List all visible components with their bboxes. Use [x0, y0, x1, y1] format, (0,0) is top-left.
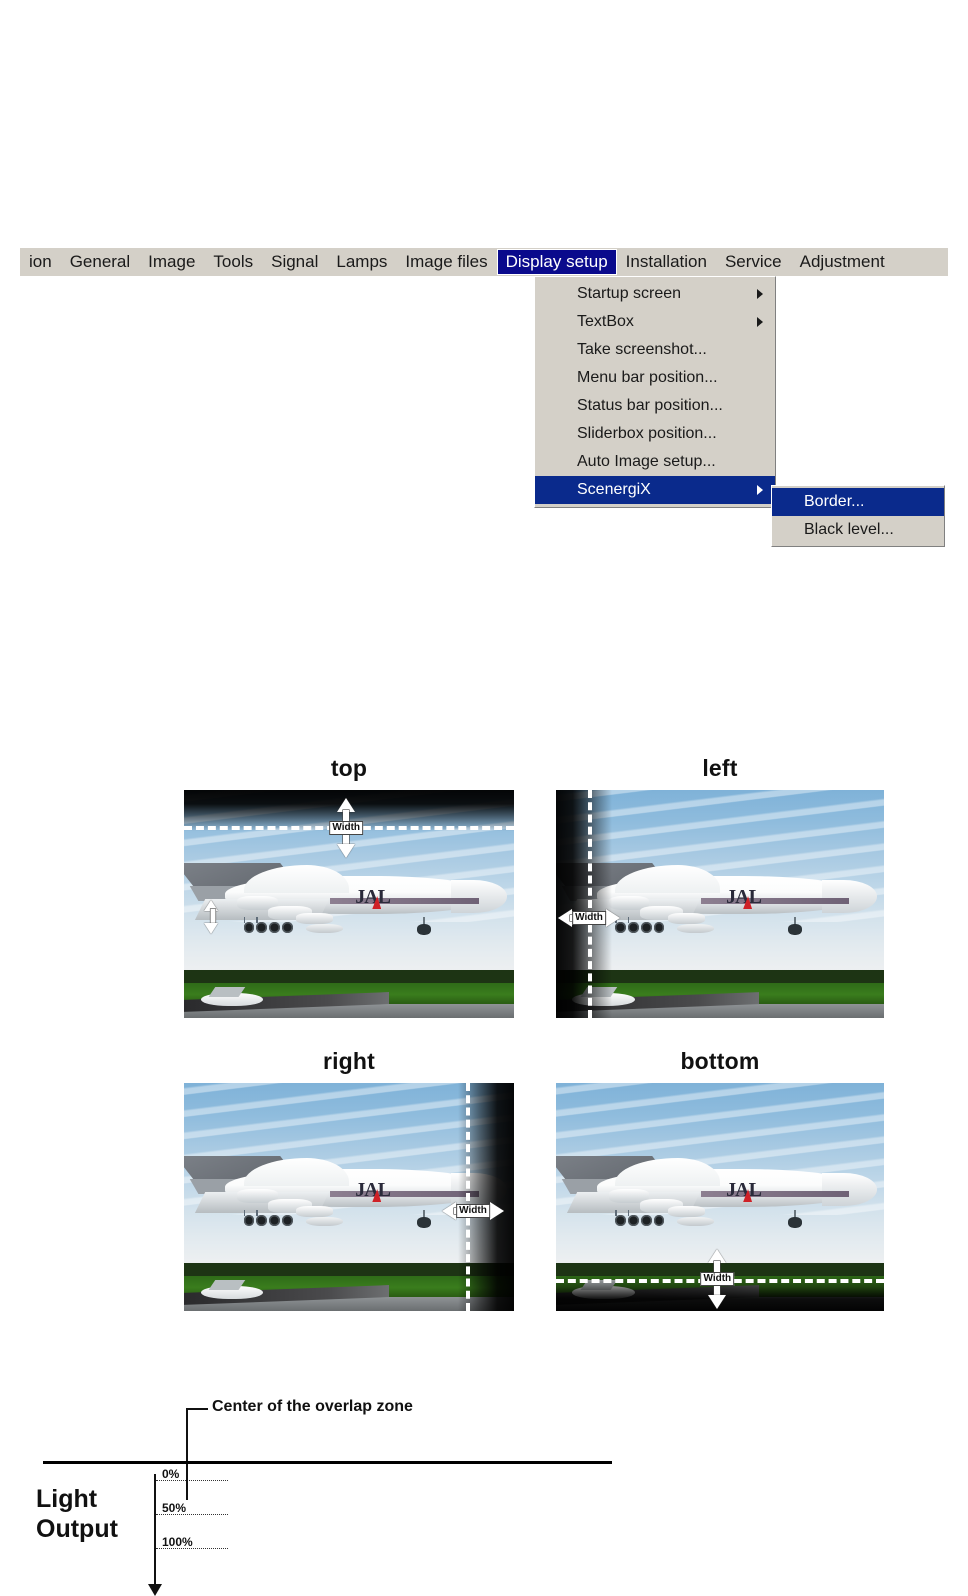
callout-label: Center of the overlap zone	[212, 1398, 413, 1416]
airline-mark: JAL	[355, 886, 390, 909]
gear-strut	[256, 917, 258, 923]
wheel	[654, 1215, 665, 1226]
light-output-label-line1: Light	[36, 1484, 97, 1514]
tick-label-50: 50%	[162, 1501, 186, 1515]
arrowhead-down-icon	[708, 1295, 726, 1309]
menu-item-startup-screen[interactable]: Startup screen	[535, 280, 775, 308]
airline-mark: JAL	[726, 1179, 761, 1202]
engine-3	[296, 913, 333, 924]
photo-bottom: JAL Width	[556, 1083, 884, 1311]
nose	[451, 880, 507, 913]
light-output-label-line2: Output	[36, 1514, 118, 1544]
hanging-pod	[788, 1217, 802, 1228]
footer-rule	[43, 1461, 612, 1464]
gear-strut	[244, 1210, 246, 1216]
landing-gear	[615, 1215, 664, 1226]
wheel	[628, 1215, 639, 1226]
menu-item-menu-bar-position[interactable]: Menu bar position...	[535, 364, 775, 392]
airline-mark: JAL	[726, 886, 761, 909]
nose	[822, 880, 877, 913]
menu-item-label: Menu bar position...	[577, 369, 718, 386]
engine-3	[668, 1206, 705, 1217]
width-label: Width	[329, 821, 363, 835]
engine-3	[668, 913, 705, 924]
menu-item-scenergix[interactable]: ScenergiX	[535, 476, 775, 504]
menu-item-label: Auto Image setup...	[577, 453, 716, 470]
width-arrow-top: Width	[329, 798, 363, 858]
hanging-pod	[788, 924, 802, 935]
chevron-right-icon	[757, 317, 763, 327]
menu-item-signal[interactable]: Signal	[262, 249, 327, 275]
tick-label-100: 100%	[162, 1535, 193, 1549]
menu-item-image[interactable]: Image	[139, 249, 204, 275]
photo-right: JAL Width	[184, 1083, 514, 1311]
cheatline	[701, 1191, 849, 1198]
width-arrow-bottom: Width	[700, 1249, 734, 1309]
menu-item-general[interactable]: General	[61, 249, 139, 275]
jumbo-jet: JAL	[194, 858, 504, 940]
menu-item-textbox[interactable]: TextBox	[535, 308, 775, 336]
arrowhead-down-icon	[204, 923, 218, 934]
engine-pod	[306, 1217, 343, 1226]
light-output-axis	[154, 1474, 156, 1586]
arrowhead-right-icon	[606, 909, 620, 927]
landing-gear	[615, 922, 664, 933]
wheel	[256, 1215, 267, 1226]
wheel	[244, 922, 255, 933]
menu-item-label: Status bar position...	[577, 397, 723, 414]
wheel	[641, 922, 652, 933]
light-output-arrowhead-icon	[148, 1584, 162, 1596]
engine-pod	[677, 1217, 714, 1226]
wheel	[628, 922, 639, 933]
engine-pod	[306, 924, 343, 933]
width-label: Width	[456, 1204, 490, 1218]
scenergix-submenu: Border... Black level...	[771, 485, 945, 547]
photo-left: JAL Width	[556, 790, 884, 1018]
wheel	[641, 1215, 652, 1226]
callout-leader-horizontal	[186, 1408, 208, 1410]
wheel	[269, 922, 280, 933]
menu-bar: ion General Image Tools Signal Lamps Ima…	[20, 248, 948, 276]
wheel	[282, 1215, 293, 1226]
chevron-right-icon	[757, 485, 763, 495]
menu-item-sliderbox-position[interactable]: Sliderbox position...	[535, 420, 775, 448]
gear-strut	[244, 917, 246, 923]
submenu-item-black-level[interactable]: Black level...	[772, 516, 944, 544]
gear-strut	[256, 1210, 258, 1216]
wheel	[654, 922, 665, 933]
menu-item-display-setup[interactable]: Display setup	[497, 249, 617, 275]
tick-label-0: 0%	[162, 1467, 179, 1481]
callout-leader-vertical	[186, 1408, 188, 1500]
wheel	[244, 1215, 255, 1226]
menu-item-label: Startup screen	[577, 285, 681, 302]
wheel	[615, 1215, 626, 1226]
menu-item-service[interactable]: Service	[716, 249, 791, 275]
chevron-right-icon	[757, 289, 763, 299]
arrowhead-right-icon	[490, 1202, 504, 1220]
dropdown-gap	[775, 276, 833, 486]
panel-title-right: right	[184, 1048, 514, 1075]
treeline	[184, 970, 514, 982]
submenu-item-border[interactable]: Border...	[772, 488, 944, 516]
airline-mark: JAL	[355, 1179, 390, 1202]
gear-strut	[628, 1210, 630, 1216]
menu-item-label: TextBox	[577, 313, 634, 330]
landing-gear	[244, 922, 294, 933]
wheel	[256, 922, 267, 933]
engine-pod	[677, 924, 714, 933]
scenergix-border-diagram: Light Output 0% 50% 100% Center of the o…	[0, 690, 968, 1350]
menu-item-tools[interactable]: Tools	[204, 249, 262, 275]
menu-item-label: Sliderbox position...	[577, 425, 717, 442]
engine-3	[296, 1206, 333, 1217]
width-arrow-top-secondary	[204, 900, 222, 934]
width-label: Width	[700, 1272, 734, 1286]
menu-item-label: Take screenshot...	[577, 341, 707, 358]
menu-item-lamps[interactable]: Lamps	[327, 249, 396, 275]
hanging-pod	[417, 924, 431, 935]
menu-item-take-screenshot[interactable]: Take screenshot...	[535, 336, 775, 364]
menu-item-label: ScenergiX	[577, 481, 651, 498]
gear-strut	[615, 1210, 617, 1216]
width-label: Width	[572, 911, 606, 925]
wheel	[269, 1215, 280, 1226]
small-airplane	[201, 1286, 264, 1298]
gear-strut	[628, 917, 630, 923]
panel-title-top: top	[184, 755, 514, 782]
photo-top: JAL Width	[184, 790, 514, 1018]
wheel	[282, 922, 293, 933]
cheatline	[330, 898, 479, 905]
menu-item-ion[interactable]: ion	[20, 249, 61, 275]
jumbo-jet: JAL	[566, 1151, 874, 1233]
menu-item-adjustment[interactable]: Adjustment	[791, 249, 894, 275]
hanging-pod	[417, 1217, 431, 1228]
panel-title-left: left	[556, 755, 884, 782]
ground	[184, 970, 514, 1018]
small-airplane	[201, 993, 264, 1005]
menu-item-installation[interactable]: Installation	[617, 249, 716, 275]
nose	[822, 1173, 877, 1206]
menu-item-auto-image-setup[interactable]: Auto Image setup...	[535, 448, 775, 476]
width-arrow-left: Width	[558, 902, 620, 934]
light-output-scale: Light Output 0% 50% 100%	[36, 1466, 196, 1596]
width-arrow-right: Width	[442, 1195, 504, 1227]
landing-gear	[244, 1215, 294, 1226]
menu-item-image-files[interactable]: Image files	[396, 249, 496, 275]
arrowhead-down-icon	[337, 844, 355, 858]
menu-item-status-bar-position[interactable]: Status bar position...	[535, 392, 775, 420]
panel-title-bottom: bottom	[556, 1048, 884, 1075]
display-setup-dropdown: Startup screen TextBox Take screenshot..…	[534, 276, 776, 508]
cheatline	[701, 898, 849, 905]
